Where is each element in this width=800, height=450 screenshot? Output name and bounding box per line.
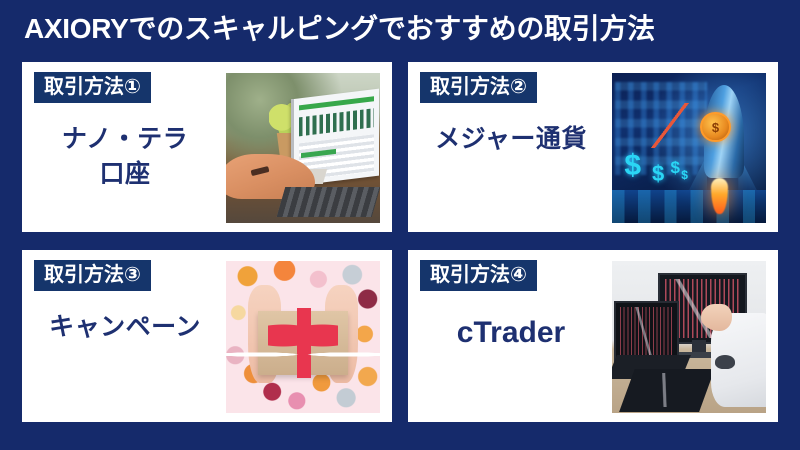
card-1-text-column: 取引方法① ナノ・テラ 口座 (22, 62, 228, 232)
card-2-thumbnail: $ $ $ $ $ (612, 73, 766, 223)
screen-bar-chart (299, 108, 374, 136)
dollar-sign-icon-1: $ (624, 151, 641, 181)
rocket-flame-icon (711, 178, 728, 214)
laptop-icon (614, 301, 680, 363)
laptop-candlestick-chart (620, 307, 672, 356)
red-trend-line-icon (637, 103, 708, 148)
tablet-icon (620, 369, 716, 412)
card-2-label-line1: メジャー通貨 (408, 122, 614, 157)
dollar-sign-icon-3: $ (671, 159, 680, 176)
trading-desk-photo-icon (612, 261, 766, 413)
external-keyboard-icon (277, 187, 380, 217)
pointing-hand-icon (701, 304, 732, 331)
gift-box-photo-icon (226, 261, 380, 413)
card-3-label: キャンペーン (22, 310, 228, 345)
computer-mouse-icon (715, 355, 735, 369)
rocket-growth-illustration-icon: $ $ $ $ $ (612, 73, 766, 223)
card-4-label: cTrader (408, 312, 614, 353)
laptop-trading-photo-icon (226, 73, 380, 223)
card-3-badge: 取引方法③ (34, 260, 151, 291)
card-1-badge: 取引方法① (34, 72, 151, 103)
screen-green-bar (299, 96, 374, 110)
tablet-chart (629, 373, 705, 407)
card-4-text-column: 取引方法④ cTrader (408, 250, 614, 422)
dollar-sign-icon-2: $ (652, 163, 664, 185)
trading-method-card-3[interactable]: 取引方法③ キャンペーン (22, 250, 392, 422)
card-1-thumbnail (226, 73, 380, 223)
trading-method-card-grid: 取引方法① ナノ・テラ 口座 (22, 62, 778, 422)
card-2-badge: 取引方法② (420, 72, 537, 103)
trading-method-card-1[interactable]: 取引方法① ナノ・テラ 口座 (22, 62, 392, 232)
card-1-label: ナノ・テラ 口座 (22, 122, 228, 191)
poster: AXIORYでのスキャルピングでおすすめの取引方法 取引方法① ナノ・テラ 口座 (0, 0, 800, 450)
card-4-badge: 取引方法④ (420, 260, 537, 291)
dollar-coin-icon: $ (700, 112, 730, 142)
card-3-text-column: 取引方法③ キャンペーン (22, 250, 228, 422)
dollar-sign-icon-4: $ (681, 169, 688, 181)
fingernails-icon (226, 348, 380, 362)
card-4-thumbnail (612, 261, 766, 413)
card-3-label-line1: キャンペーン (22, 310, 228, 345)
card-4-label-line1: cTrader (408, 312, 614, 353)
grid-floor-icon (612, 190, 766, 223)
card-2-label: メジャー通貨 (408, 122, 614, 157)
card-2-text-column: 取引方法② メジャー通貨 (408, 62, 614, 232)
trading-method-card-2[interactable]: 取引方法② メジャー通貨 $ $ $ $ $ (408, 62, 778, 232)
trading-method-card-4[interactable]: 取引方法④ cTrader (408, 250, 778, 422)
card-3-thumbnail (226, 261, 380, 413)
card-1-label-line1: ナノ・テラ (22, 122, 228, 157)
card-1-label-line2: 口座 (22, 157, 228, 192)
page-title: AXIORYでのスキャルピングでおすすめの取引方法 (24, 8, 784, 50)
